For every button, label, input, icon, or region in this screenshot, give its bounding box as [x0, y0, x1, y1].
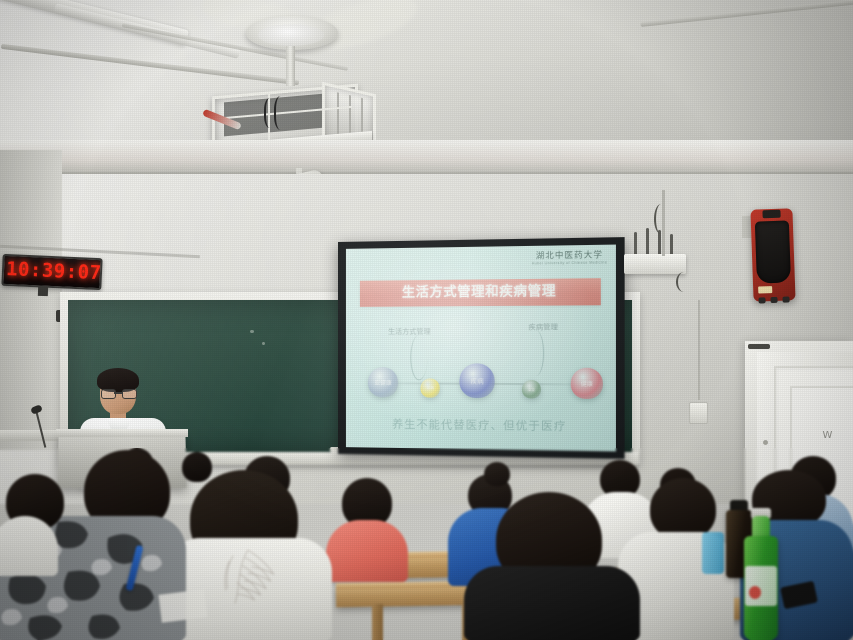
sprite-label-accent [749, 586, 761, 599]
blue-water-bottle [702, 532, 724, 574]
speaker-foot [758, 297, 765, 303]
router-antenna-4 [670, 234, 673, 256]
student-head [484, 462, 510, 486]
speaker-label [758, 286, 772, 293]
slide-title-bar: 生活方式管理和疾病管理 [360, 278, 601, 307]
student-head [650, 478, 716, 540]
ceiling-fan-hub [258, 24, 324, 46]
router-antenna-2 [646, 228, 649, 256]
logo-text: 湖北中医药大学 [532, 249, 608, 262]
lecturer-glasses [101, 389, 135, 397]
sprite-bottle-label [745, 566, 777, 606]
projector-drop-rod [286, 46, 295, 86]
wall-socket [689, 402, 708, 424]
door-hinge [748, 344, 770, 349]
university-logo: 湖北中医药大学 Hubei University of Chinese Medi… [532, 249, 608, 266]
clock-bracket [38, 286, 48, 296]
wireless-router [624, 254, 686, 274]
wall-cable [662, 190, 665, 256]
slide-title: 生活方式管理和疾病管理 [360, 278, 601, 307]
logo-subtext: Hubei University of Chinese Medicine [532, 260, 608, 265]
clock-time-display: 10:39:07 [6, 258, 99, 284]
projection-screen: 湖北中医药大学 Hubei University of Chinese Medi… [346, 245, 616, 452]
slide-leader-line-left [410, 335, 427, 381]
podium-side-shelf [0, 430, 62, 441]
router-cable-2 [676, 272, 692, 292]
paper-sheet [158, 589, 207, 622]
projection-screen-frame: 湖北中医药大学 Hubei University of Chinese Medi… [338, 237, 625, 459]
door-sign: W [808, 427, 848, 445]
orb-3-label: 疾病 [459, 376, 494, 385]
left-wall [0, 150, 62, 450]
student-head [182, 452, 212, 482]
student-body-coral [326, 520, 408, 582]
slide-orb-3: 疾病 [459, 363, 494, 398]
orb-2-label: 未病 [420, 385, 439, 390]
slide-leader-line-right [528, 330, 544, 375]
door-knob[interactable] [763, 440, 768, 445]
slide-orb-1: 亚健康 [368, 367, 398, 397]
router-antenna [634, 232, 637, 256]
slide-label-left: 生活方式管理 [388, 327, 431, 337]
ceiling-beam [0, 140, 853, 174]
speaker-foot-2 [770, 297, 777, 303]
router-cable [654, 204, 668, 234]
chalk-mark-2 [262, 342, 265, 345]
speaker-grill [755, 220, 791, 283]
speaker-foot-3 [782, 296, 789, 302]
orb-1-label: 亚健康 [368, 378, 398, 387]
projector-wire-2 [264, 98, 278, 128]
wall-cable-2 [698, 300, 700, 400]
slide-orb-4: 康复 [522, 380, 541, 399]
slide-footer-text: 养生不能代替医疗、但优于医疗 [346, 415, 616, 435]
slide-orb-5: 健康 [571, 368, 603, 399]
desk-leg [372, 604, 383, 640]
digital-clock: 10:39:07 [1, 254, 102, 290]
wall-speaker [750, 208, 795, 301]
orb-4-label: 康复 [522, 387, 541, 392]
wing-graphic-icon [200, 536, 292, 612]
podium-top-edge [56, 429, 188, 437]
slide-orb-2: 未病 [420, 378, 439, 397]
student-body-black [464, 566, 640, 640]
chalk-mark [250, 330, 254, 333]
classroom-photo: 10:39:07 湖北中医药大学 Hubei University of Chi… [0, 0, 853, 640]
orb-5-label: 健康 [571, 379, 603, 389]
speaker-tweeter [762, 210, 780, 219]
